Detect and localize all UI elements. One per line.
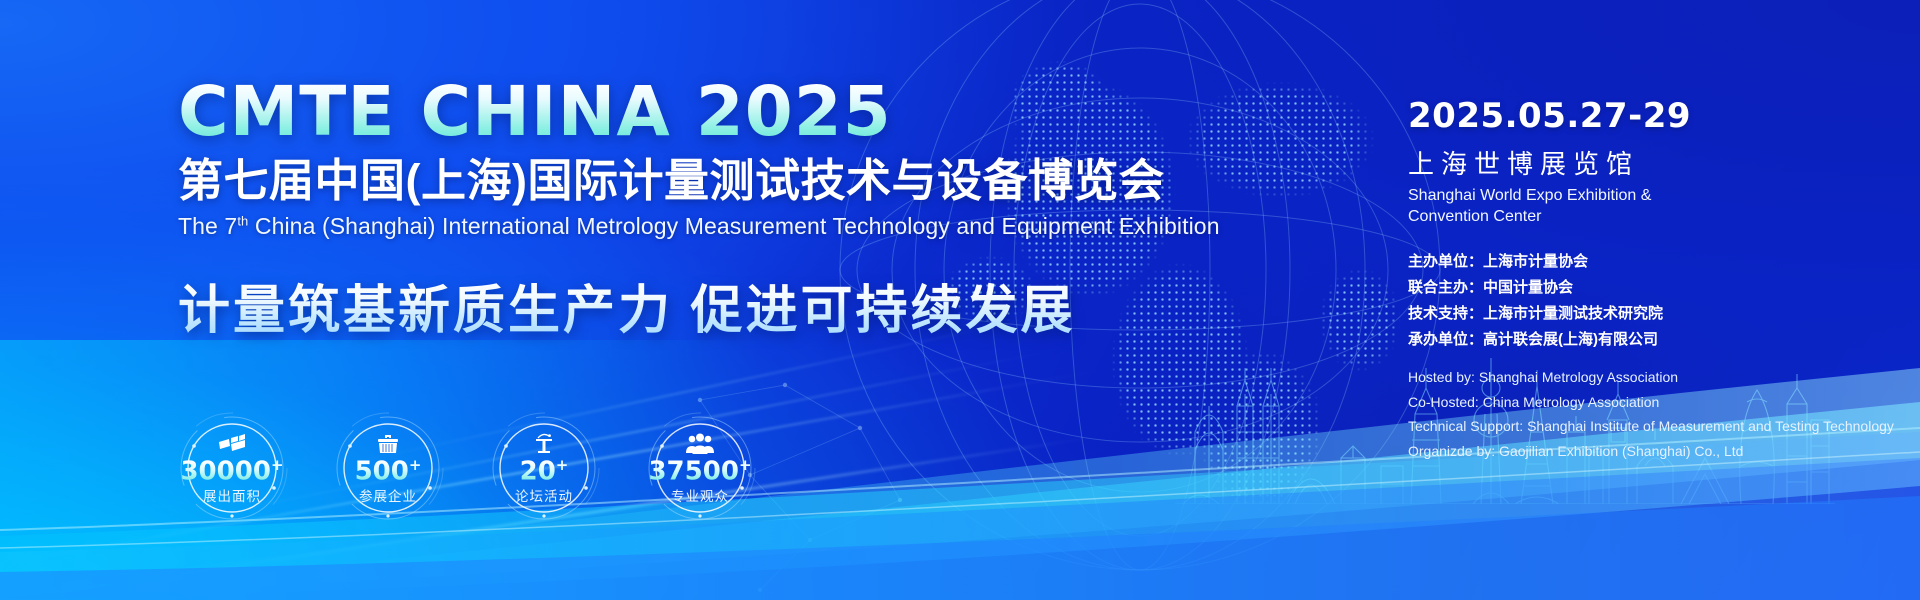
organizer-en-item: Co-Hosted: China Metrology Association xyxy=(1408,390,1878,415)
stat-badge: 30000+ 展出面积 xyxy=(176,412,288,524)
organizer-en-item: Organizde by: Gaojilian Exhibition (Shan… xyxy=(1408,439,1878,464)
stat-value: 500+ xyxy=(355,458,422,485)
organizer-en-item: Hosted by: Shanghai Metrology Associatio… xyxy=(1408,365,1878,390)
stat-number: 30000 xyxy=(180,456,270,486)
stat-badge: 500+ 参展企业 xyxy=(332,412,444,524)
stat-label: 论坛活动 xyxy=(515,485,573,505)
event-title-en-post: China (Shanghai) International Metrology… xyxy=(248,213,1219,239)
stat-badge: 20+ 论坛活动 xyxy=(488,412,600,524)
stat-plus-sign: + xyxy=(739,456,752,474)
organizers-en-list: Hosted by: Shanghai Metrology Associatio… xyxy=(1408,365,1878,463)
venue-name-en: Shanghai World Expo Exhibition & Convent… xyxy=(1408,185,1678,227)
stat-plus-sign: + xyxy=(409,456,422,474)
banner-text-block: CMTE CHINA 2025 第七届中国(上海)国际计量测试技术与设备博览会 … xyxy=(178,78,1318,343)
organizers-cn-list: 主办单位：上海市计量协会 联合主办：中国计量协会 技术支持：上海市计量测试技术研… xyxy=(1408,249,1878,352)
stat-label: 展出面积 xyxy=(203,485,261,505)
event-title-en: The 7th China (Shanghai) International M… xyxy=(178,213,1318,240)
organizer-cn-item: 联合主办：中国计量协会 xyxy=(1408,275,1878,301)
stat-number: 37500 xyxy=(648,456,738,486)
organizer-en-item: Technical Support: Shanghai Institute of… xyxy=(1408,414,1878,439)
audience-people-icon xyxy=(685,431,715,455)
event-title-en-pre: The 7 xyxy=(178,213,237,239)
stat-value: 20+ xyxy=(520,458,569,485)
organizer-cn-item: 主办单位：上海市计量协会 xyxy=(1408,249,1878,275)
event-title-cn: 第七届中国(上海)国际计量测试技术与设备博览会 xyxy=(178,156,1318,206)
venue-name-cn: 上海世博展览馆 xyxy=(1408,144,1878,181)
stat-value: 30000+ xyxy=(180,458,283,485)
stat-plus-sign: + xyxy=(271,456,284,474)
organizer-cn-item: 承办单位：高计联会展(上海)有限公司 xyxy=(1408,327,1878,353)
stat-badge: 37500+ 专业观众 xyxy=(644,412,756,524)
stat-number: 20 xyxy=(520,456,556,486)
event-date: 2025.05.27-29 xyxy=(1408,96,1878,136)
podium-icon xyxy=(532,431,556,455)
event-slogan: 计量筑基新质生产力 促进可持续发展 xyxy=(178,268,1318,343)
stat-label: 参展企业 xyxy=(359,485,417,505)
stat-value: 37500+ xyxy=(648,458,751,485)
stat-number: 500 xyxy=(355,456,409,486)
stat-plus-sign: + xyxy=(556,456,569,474)
event-headline: CMTE CHINA 2025 xyxy=(178,78,1318,147)
ordinal-superscript: th xyxy=(237,214,248,229)
organizer-cn-item: 技术支持：上海市计量测试技术研究院 xyxy=(1408,301,1878,327)
exhibition-floor-icon xyxy=(218,431,246,455)
briefcase-icon xyxy=(376,431,400,455)
event-info-panel: 2025.05.27-29 上海世博展览馆 Shanghai World Exp… xyxy=(1408,96,1878,463)
stats-row: 30000+ 展出面积 xyxy=(176,412,756,524)
stat-label: 专业观众 xyxy=(671,485,729,505)
exhibition-banner: CMTE CHINA 2025 第七届中国(上海)国际计量测试技术与设备博览会 … xyxy=(0,0,1920,600)
